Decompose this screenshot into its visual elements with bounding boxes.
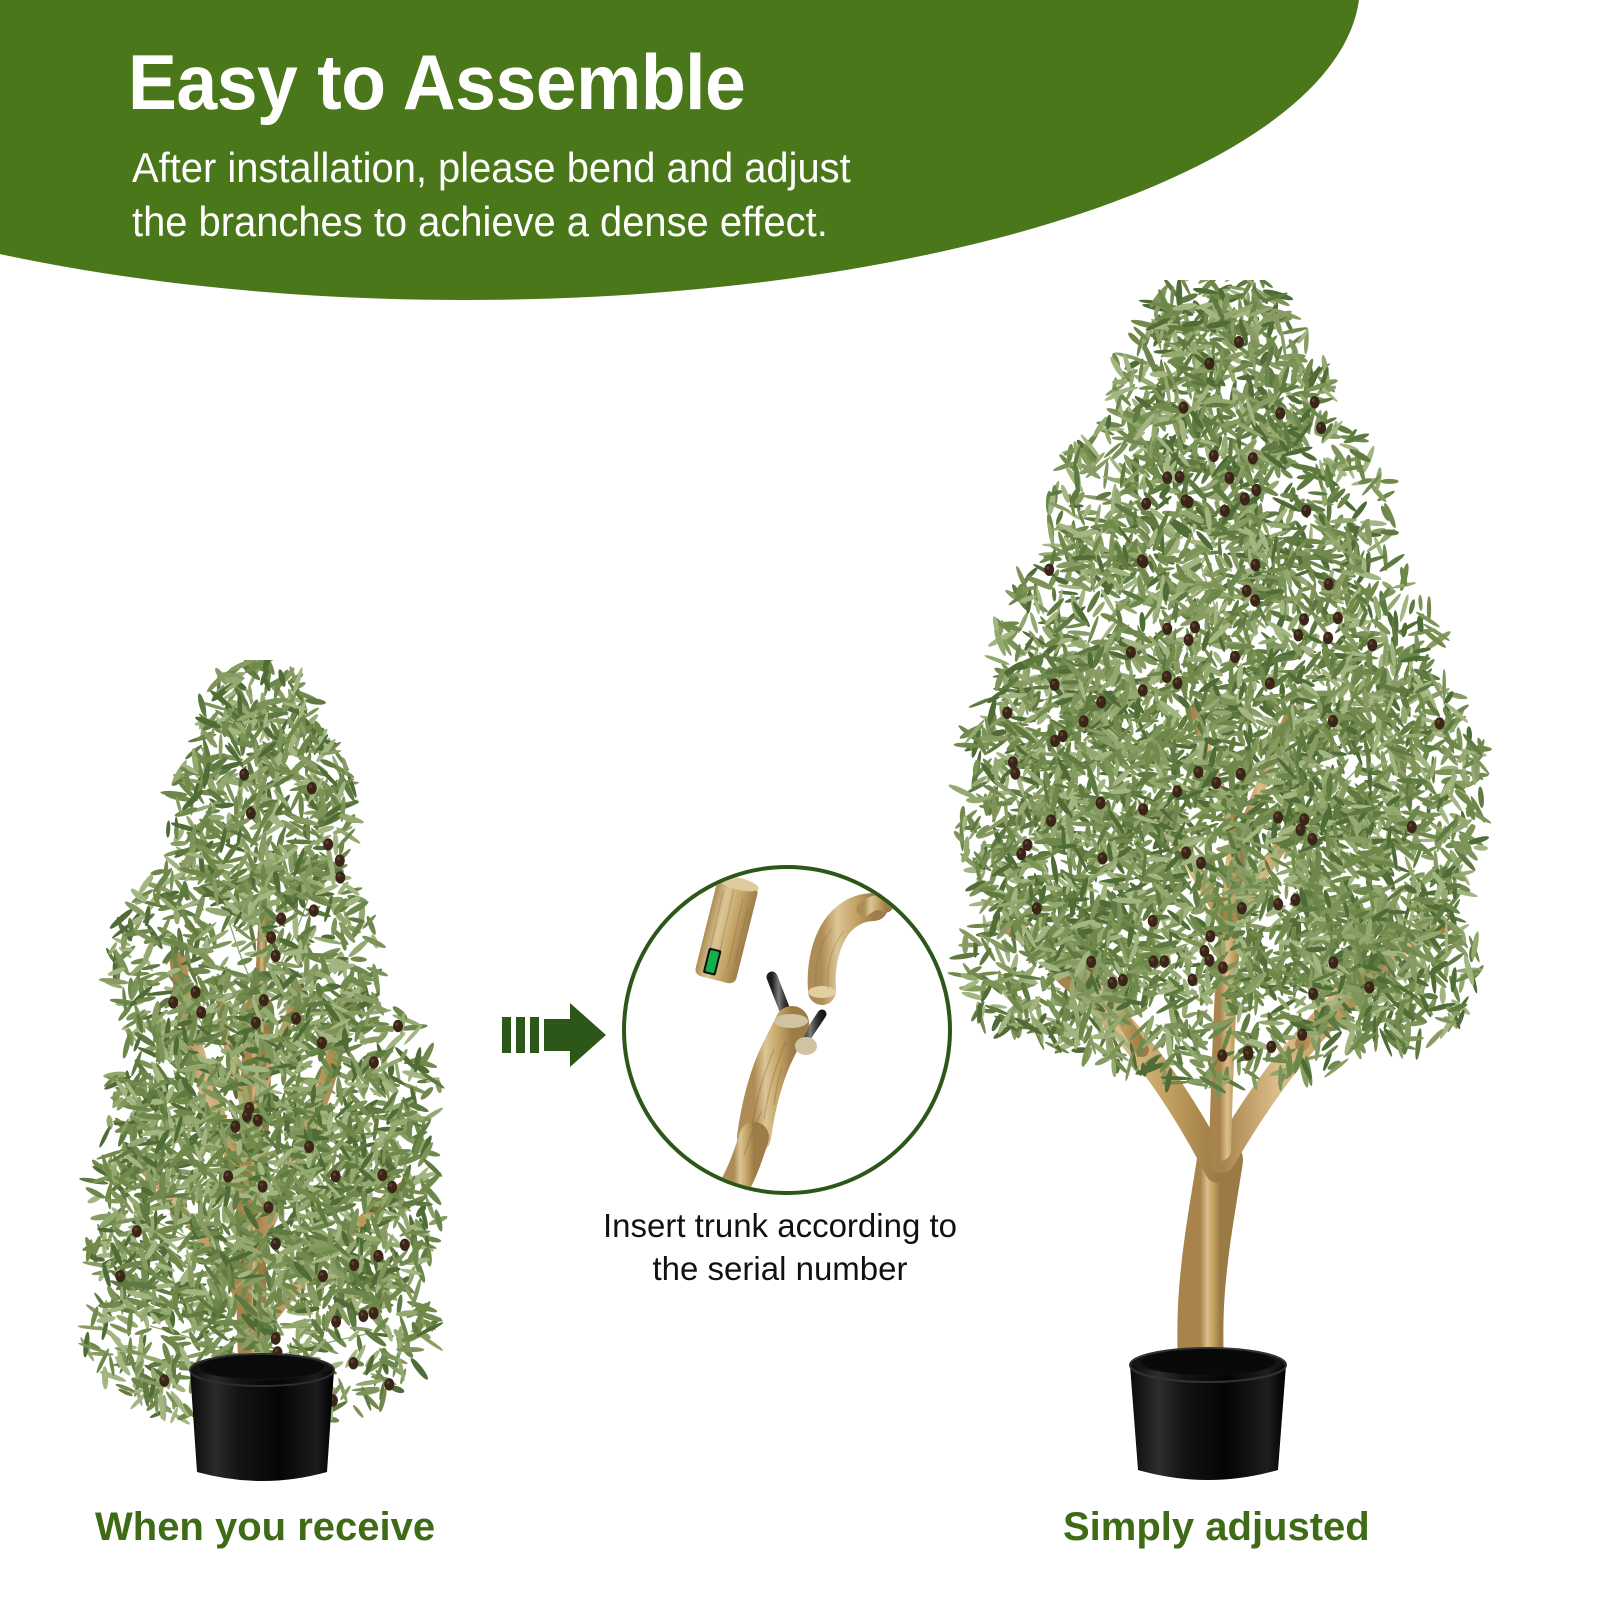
label-simply-adjusted: Simply adjusted — [1063, 1505, 1370, 1550]
trunk-segment-upper-left — [694, 873, 760, 985]
detail-caption-line-1: Insert trunk according to — [580, 1205, 980, 1248]
assembly-detail-callout: Insert trunk according to the serial num… — [600, 865, 960, 1295]
right-arrow-icon — [500, 995, 610, 1075]
left-tree-illustration — [60, 660, 500, 1520]
process-arrow — [500, 995, 610, 1075]
detail-caption-line-2: the serial number — [580, 1248, 980, 1291]
right-tree-pot — [1130, 1348, 1286, 1480]
right-tree-illustration — [930, 280, 1510, 1520]
infographic-canvas: Easy to Assemble After installation, ple… — [0, 0, 1600, 1600]
label-when-you-receive: When you receive — [95, 1505, 435, 1550]
header-banner-ellipse — [0, 0, 1360, 300]
tree-image-simply-adjusted — [930, 280, 1510, 1520]
tree-image-when-you-receive — [60, 660, 500, 1520]
detail-caption: Insert trunk according to the serial num… — [580, 1205, 980, 1291]
detail-circle-frame — [622, 865, 952, 1195]
left-tree-pot — [190, 1354, 334, 1481]
trunk-base-with-rods — [734, 977, 822, 1187]
trunk-segment-upper-right — [808, 903, 886, 998]
trunk-assembly-diagram — [626, 869, 952, 1195]
